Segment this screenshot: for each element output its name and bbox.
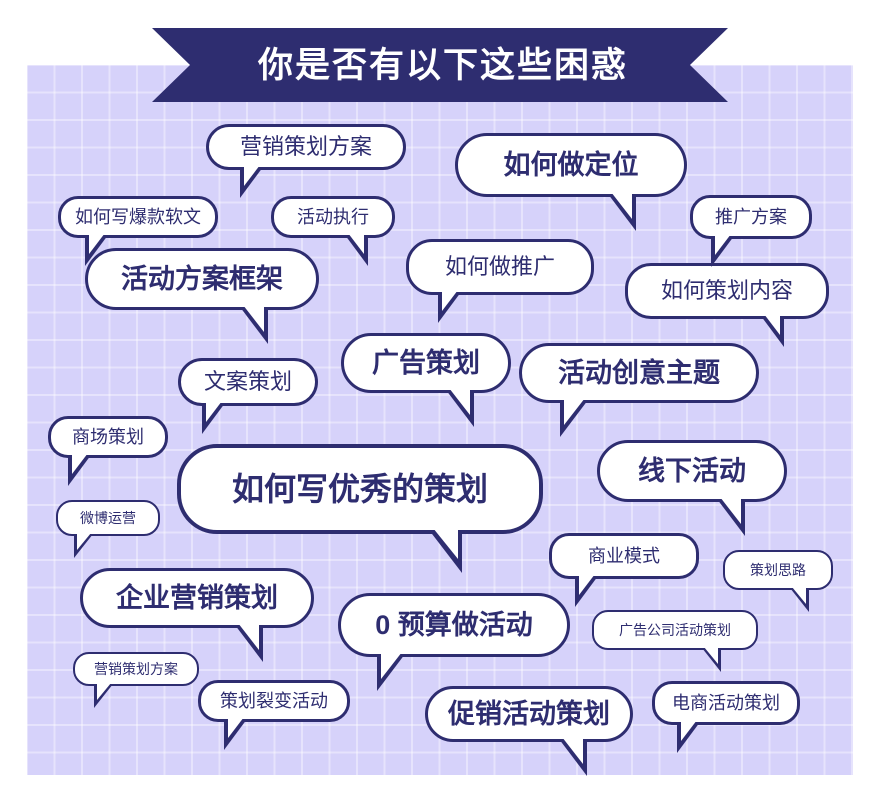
speech-bubble: 营销策划方案	[206, 124, 406, 170]
tail-fill	[77, 533, 91, 550]
tail-fill	[792, 587, 806, 604]
speech-bubble: 活动创意主题	[519, 343, 759, 403]
tail-fill	[579, 574, 595, 595]
speech-bubble: 活动方案框架	[85, 248, 319, 310]
tail-fill	[449, 388, 470, 415]
speech-bubble: 商业模式	[549, 533, 699, 579]
tail-fill	[244, 165, 260, 186]
tail-fill	[228, 717, 244, 738]
speech-bubble: 促销活动策划	[425, 686, 633, 742]
speech-bubble-label: 如何写爆款软文	[73, 208, 203, 226]
speech-bubble-label: 活动执行	[295, 208, 371, 226]
tail-fill	[89, 233, 105, 254]
header-ribbon-banner: 你是否有以下这些困惑	[152, 28, 728, 102]
poster-canvas: 你是否有以下这些困惑 营销策划方案如何做定位如何写爆款软文活动执行推广方案如何做…	[0, 0, 880, 812]
speech-bubble: 如何做定位	[455, 133, 687, 197]
speech-bubble-label: 如何策划内容	[659, 280, 795, 302]
speech-bubble: 如何策划内容	[625, 263, 829, 319]
speech-bubble-label: 文案策划	[202, 371, 294, 393]
speech-bubble: 如何做推广	[406, 239, 594, 295]
speech-bubble: 企业营销策划	[80, 568, 314, 628]
speech-bubble-label: 活动创意主题	[556, 360, 722, 387]
speech-bubble: 策划裂变活动	[198, 680, 350, 722]
tail-fill	[704, 647, 718, 664]
tail-fill	[562, 737, 583, 764]
speech-bubble-label: 0 预算做活动	[373, 612, 535, 639]
page-title: 你是否有以下这些困惑	[258, 48, 628, 83]
speech-bubble: 活动执行	[271, 196, 395, 238]
speech-bubble: 线下活动	[597, 440, 787, 502]
speech-bubble-label: 广告策划	[370, 350, 482, 377]
speech-bubble-label: 促销活动策划	[446, 701, 612, 728]
speech-bubble: 营销策划方案	[73, 652, 199, 686]
tail-fill	[681, 720, 697, 741]
tail-fill	[348, 233, 364, 254]
speech-bubble-label: 活动方案框架	[119, 266, 285, 293]
tail-fill	[720, 497, 741, 524]
tail-fill	[433, 528, 458, 559]
tail-fill	[243, 305, 264, 332]
speech-bubble-label: 广告公司活动策划	[617, 623, 733, 637]
tail-fill	[206, 401, 222, 422]
tail-fill	[238, 623, 259, 650]
tail-fill	[381, 652, 402, 679]
speech-bubble: 商场策划	[48, 416, 168, 458]
speech-bubble-label: 如何写优秀的策划	[230, 473, 490, 505]
speech-bubble-label: 策划裂变活动	[218, 692, 330, 710]
tail-fill	[715, 234, 731, 255]
speech-bubble: 0 预算做活动	[338, 593, 570, 657]
tail-fill	[611, 192, 632, 219]
speech-bubble-label: 如何做定位	[502, 152, 641, 179]
speech-bubble-label: 策划思路	[748, 563, 808, 577]
speech-bubble-label: 如何做推广	[443, 256, 557, 278]
speech-bubble: 如何写爆款软文	[58, 196, 218, 238]
tail-fill	[442, 290, 458, 311]
tail-fill	[97, 683, 111, 700]
tail-fill	[72, 453, 88, 474]
speech-bubble-label: 线下活动	[636, 458, 748, 485]
speech-bubble-label: 营销策划方案	[238, 136, 374, 158]
tail-fill	[764, 314, 780, 335]
speech-bubble-label: 微博运营	[78, 511, 138, 525]
speech-bubble: 推广方案	[690, 195, 812, 239]
speech-bubble-label: 商业模式	[586, 547, 662, 565]
speech-bubble-label: 企业营销策划	[114, 585, 280, 612]
tail-fill	[564, 398, 585, 425]
speech-bubble: 微博运营	[56, 500, 160, 536]
speech-bubble-label: 推广方案	[713, 208, 789, 226]
speech-bubble: 广告策划	[341, 333, 511, 393]
speech-bubble: 如何写优秀的策划	[177, 444, 543, 534]
speech-bubble: 文案策划	[178, 358, 318, 406]
speech-bubble: 策划思路	[723, 550, 833, 590]
speech-bubble: 广告公司活动策划	[592, 610, 758, 650]
speech-bubble-label: 商场策划	[70, 428, 146, 446]
speech-bubble-label: 营销策划方案	[92, 662, 180, 676]
speech-bubble-label: 电商活动策划	[670, 694, 782, 712]
speech-bubble: 电商活动策划	[652, 681, 800, 725]
